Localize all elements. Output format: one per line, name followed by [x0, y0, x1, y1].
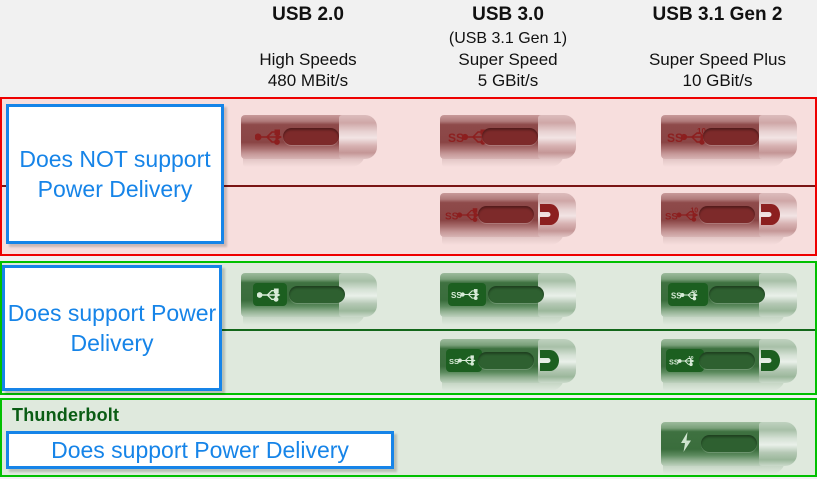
- thunderbolt-bolt-icon: [679, 432, 693, 452]
- callout-power-delivery: Does support Power Delivery: [2, 265, 222, 391]
- header-spacer: [218, 28, 398, 49]
- header-speed-name-usb20: High Speeds: [218, 49, 398, 70]
- usb-c-slot: [478, 352, 534, 369]
- svg-text:SS: SS: [449, 357, 459, 366]
- port-usb20-no-pd: [241, 111, 377, 169]
- usb-trident-icon: [255, 127, 285, 147]
- header-title-usb20: USB 2.0: [218, 2, 398, 28]
- header-spacer: [618, 28, 817, 49]
- header-title-usb30: USB 3.0: [418, 2, 598, 28]
- callout-power-delivery-text: Does support Power Delivery: [5, 298, 219, 358]
- port-usb31gen2-no-pd: SS 10: [661, 111, 797, 169]
- port-usb20-pd: [241, 269, 377, 327]
- header-column-usb31gen2: USB 3.1 Gen 2 Super Speed Plus 10 GBit/s: [618, 0, 817, 91]
- port-edge-cap: [538, 115, 576, 159]
- usb-c-slot: [701, 435, 757, 452]
- usb-c-slot: [699, 352, 755, 369]
- svg-text:SS: SS: [451, 291, 462, 300]
- header-alias-usb30: (USB 3.1 Gen 1): [418, 28, 598, 49]
- usb-c-slot: [703, 128, 759, 145]
- power-delivery-icon: [759, 348, 781, 373]
- thunderbolt-label: Thunderbolt: [12, 405, 119, 426]
- callout-no-power-delivery-text: Does NOT support Power Delivery: [9, 144, 221, 204]
- svg-text:SS: SS: [448, 131, 464, 145]
- usb-c-slot: [289, 286, 345, 303]
- usb-c-slot: [488, 286, 544, 303]
- port-usb30-pd-mark: SS: [440, 335, 576, 393]
- usb-trident-badge-icon: [253, 283, 287, 306]
- header-speed-name-usb30: Super Speed: [418, 49, 598, 70]
- column-headers: USB 2.0 High Speeds 480 MBit/s USB 3.0 (…: [0, 0, 817, 97]
- svg-text:SS: SS: [669, 357, 679, 366]
- svg-text:SS: SS: [667, 131, 683, 145]
- power-delivery-icon: [538, 202, 560, 227]
- usb-c-slot: [478, 206, 534, 223]
- svg-text:SS: SS: [671, 291, 681, 300]
- port-usb30-no-pd: SS: [440, 111, 576, 169]
- port-usb30-pd-mark: SS: [440, 189, 576, 247]
- power-delivery-icon: [538, 348, 560, 373]
- header-speed-value-usb31gen2: 10 GBit/s: [618, 70, 817, 91]
- port-usb31gen2-pd-mark: SS 10: [661, 189, 797, 247]
- usb-c-slot: [283, 128, 339, 145]
- superspeed-usb-badge-icon: SS: [446, 349, 482, 372]
- port-edge-cap: [339, 115, 377, 159]
- callout-thunderbolt-power-delivery: Does support Power Delivery: [6, 431, 394, 469]
- usb-c-slot: [699, 206, 755, 223]
- port-thunderbolt: [661, 418, 797, 476]
- header-column-usb30: USB 3.0 (USB 3.1 Gen 1) Super Speed 5 GB…: [418, 0, 598, 91]
- usb-c-slot: [709, 286, 765, 303]
- port-usb31gen2-pd-mark: SS 10: [661, 335, 797, 393]
- port-edge-cap: [759, 422, 797, 466]
- port-edge-cap: [759, 115, 797, 159]
- svg-text:SS: SS: [445, 212, 459, 223]
- header-title-usb31gen2: USB 3.1 Gen 2: [618, 2, 817, 28]
- svg-text:SS: SS: [665, 211, 678, 222]
- port-usb30-pd: SS: [440, 269, 576, 327]
- superspeed-usb-badge-icon: SS: [448, 283, 486, 306]
- superspeed-usb-10-badge-icon: SS 10: [668, 283, 708, 306]
- power-delivery-icon: [759, 202, 781, 227]
- header-speed-value-usb30: 5 GBit/s: [418, 70, 598, 91]
- header-column-usb20: USB 2.0 High Speeds 480 MBit/s: [218, 0, 398, 91]
- port-usb31gen2-pd: SS 10: [661, 269, 797, 327]
- header-speed-name-usb31gen2: Super Speed Plus: [618, 49, 817, 70]
- callout-no-power-delivery: Does NOT support Power Delivery: [6, 104, 224, 244]
- usb-c-slot: [482, 128, 538, 145]
- header-speed-value-usb20: 480 MBit/s: [218, 70, 398, 91]
- callout-thunderbolt-power-delivery-text: Does support Power Delivery: [51, 435, 349, 465]
